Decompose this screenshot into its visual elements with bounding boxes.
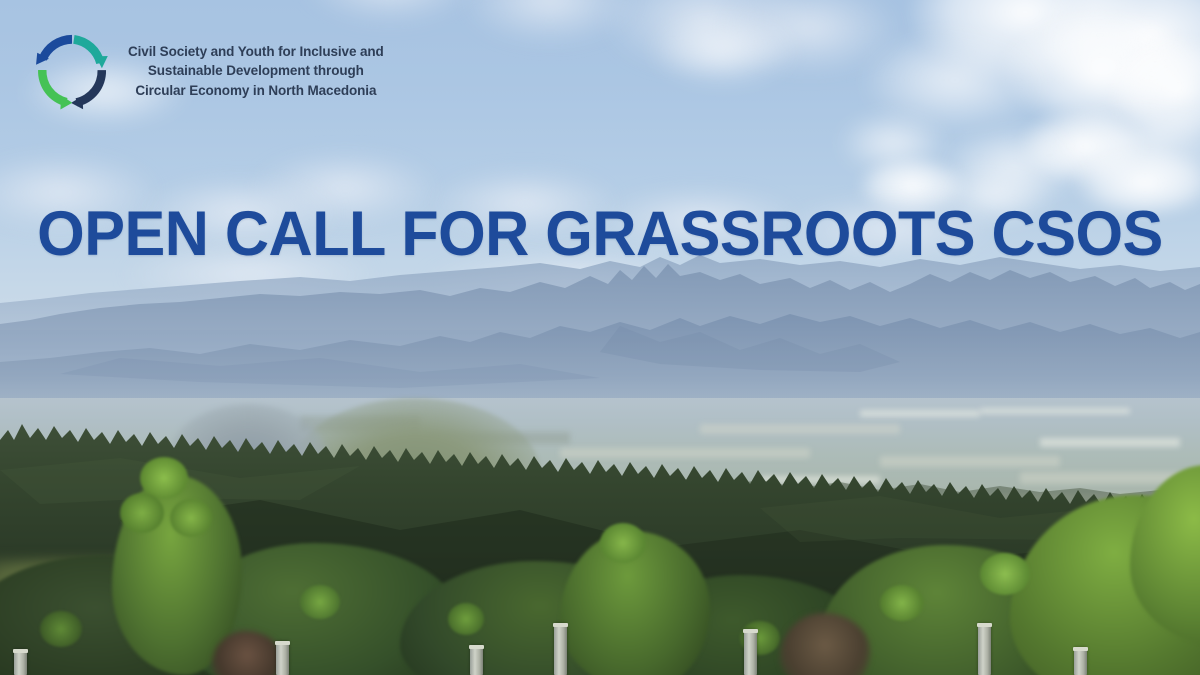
leaf-cluster: [120, 493, 164, 533]
leaf-cluster: [880, 585, 924, 621]
fence-post: [554, 623, 567, 675]
logo-text-line-2: Sustainable Development through: [128, 61, 384, 80]
fence-post: [14, 649, 27, 675]
logo-arc-top-left: [36, 35, 72, 65]
leaf-cluster: [40, 611, 82, 647]
logo-arc-top-right: [73, 35, 108, 68]
logo-arc-bottom-right: [71, 70, 106, 109]
leaf-cluster: [600, 523, 646, 563]
logo-text-line-3: Circular Economy in North Macedonia: [128, 81, 384, 100]
fence-post: [744, 629, 757, 675]
logo-text-line-1: Civil Society and Youth for Inclusive an…: [128, 42, 384, 61]
circular-economy-cycle-icon: [30, 26, 114, 116]
foreground-vegetation: [0, 435, 1200, 675]
poster-canvas: Civil Society and Youth for Inclusive an…: [0, 0, 1200, 675]
fence-post: [276, 641, 289, 675]
leaf-cluster: [448, 603, 484, 635]
logo-arc-bottom-left: [38, 70, 72, 109]
fence-post: [470, 645, 483, 675]
fence-post: [1074, 647, 1087, 675]
project-logo: Civil Society and Youth for Inclusive an…: [30, 26, 384, 116]
fence-post: [978, 623, 991, 675]
leaf-cluster: [170, 499, 212, 537]
leaf-cluster: [300, 585, 340, 619]
project-logo-text: Civil Society and Youth for Inclusive an…: [128, 42, 384, 99]
page-title: OPEN CALL FOR GRASSROOTS CSOS: [18, 203, 1182, 266]
leaf-cluster: [980, 553, 1030, 595]
